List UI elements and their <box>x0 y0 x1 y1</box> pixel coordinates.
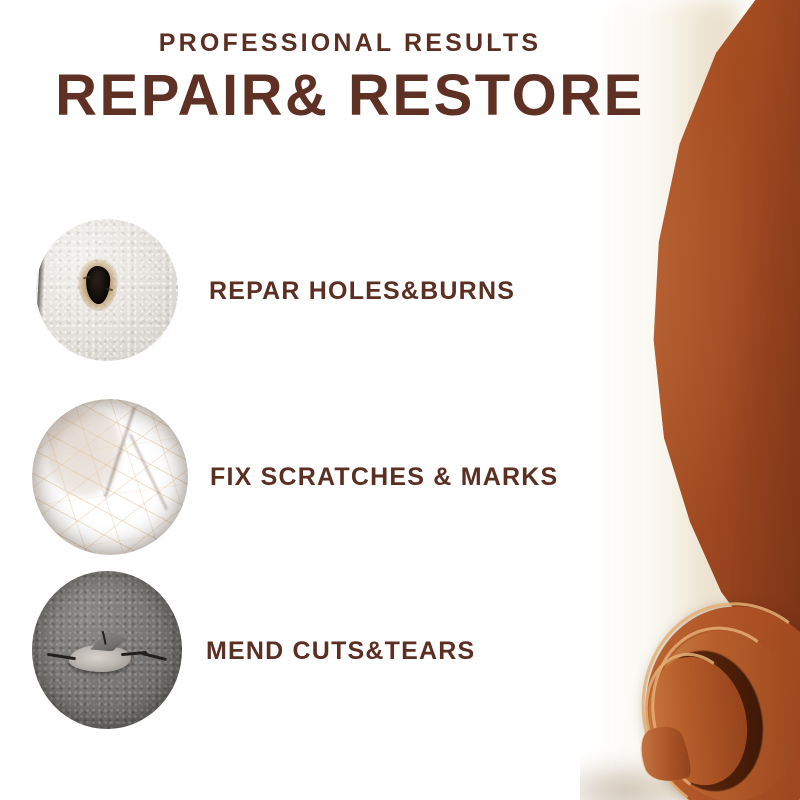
gray-swatch-vignette <box>32 571 182 729</box>
brown-swatch-vignette <box>32 399 188 555</box>
brown-leather-scratches-swatch <box>32 399 188 555</box>
heading-block: PROFESSIONAL RESULTS REPAIR& RESTORE <box>0 30 700 126</box>
promo-poster: PROFESSIONAL RESULTS REPAIR& RESTORE REP… <box>0 0 800 800</box>
feature-label-holes-burns: REPAR HOLES&BURNS <box>209 277 515 306</box>
feature-label-scratches-marks: FIX SCRATCHES & MARKS <box>210 463 558 492</box>
feature-row-cuts-tears: MEND CUTS&TEARS <box>32 571 475 729</box>
feature-label-cuts-tears: MEND CUTS&TEARS <box>206 637 475 666</box>
leather-coil <box>616 576 800 800</box>
eyebrow-text: PROFESSIONAL RESULTS <box>0 30 700 58</box>
page-title: REPAIR& RESTORE <box>0 66 700 127</box>
white-leather-burn-hole-swatch <box>36 219 178 361</box>
feature-row-scratches-marks: FIX SCRATCHES & MARKS <box>32 399 558 555</box>
burn-hole-icon <box>86 265 111 304</box>
feature-row-holes-burns: REPAR HOLES&BURNS <box>36 219 515 361</box>
gray-leather-tear-swatch <box>32 571 182 729</box>
